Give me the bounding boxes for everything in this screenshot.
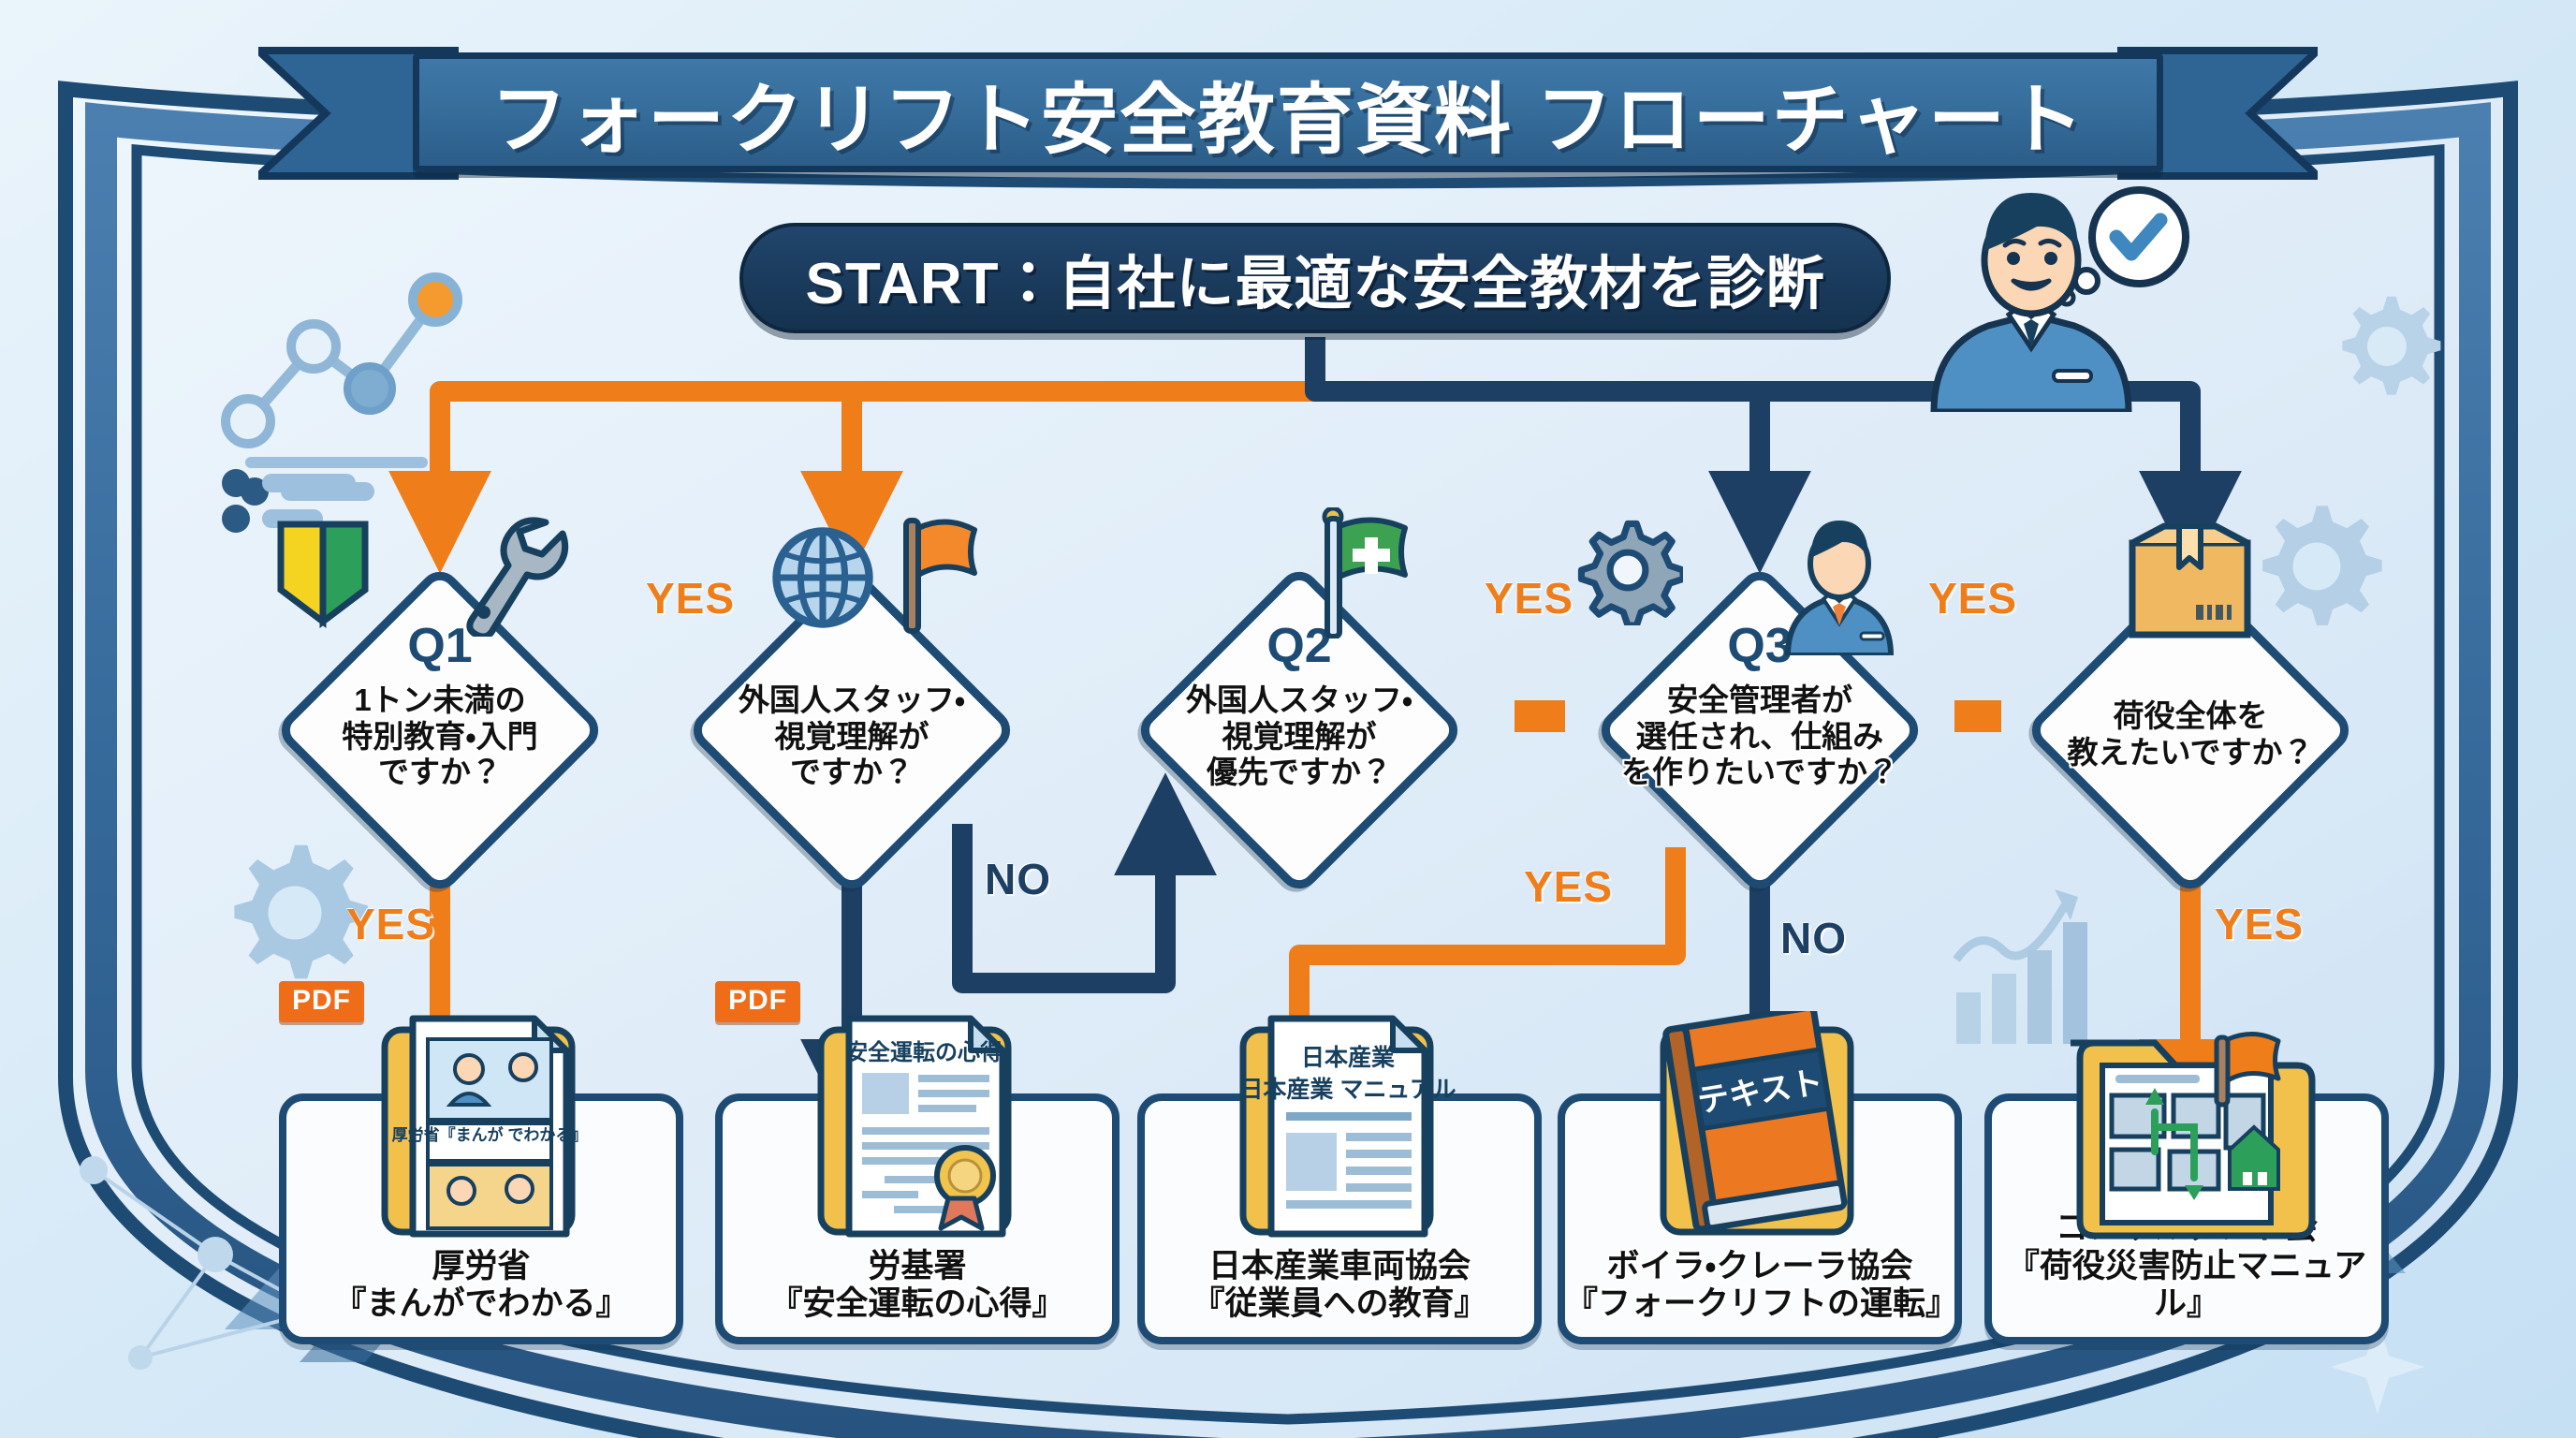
art-caption-2: 安全運転の心得 [845, 1039, 1003, 1065]
result-card-label-2: 労基署 『安全運転の心得』 [723, 1248, 1112, 1324]
decision-text: 1トン未満の 特別教育・入門 ですか？ [271, 682, 608, 791]
beginner-mark-icon [271, 517, 374, 629]
result-card-5[interactable]: コンサルタント会 『荷役災害防止マニュアル』 [1984, 1093, 2389, 1344]
pdf-badge-1: PDF [279, 981, 364, 1022]
start-node[interactable]: START：自社に最適な安全教材を診断 [739, 223, 1891, 333]
result-card-1[interactable]: 厚労省『まんが でわかる』 PDF 厚労省 『まんがでわかる』 [279, 1093, 683, 1344]
manga-booklet-icon: 厚労省『まんが でわかる』 [345, 1011, 617, 1245]
edge-label-yes-6: YES [2215, 899, 2304, 949]
orange-flag-icon [899, 515, 992, 637]
manual-document-icon: 日本産業 日本産業 マニュアル [1204, 1011, 1475, 1245]
edge-label-yes-5: YES [346, 899, 435, 949]
document-with-seal-icon: 安全運転の心得 [782, 1011, 1053, 1245]
globe-icon [768, 522, 878, 633]
junction-connector [1515, 700, 1565, 732]
manager-person-icon [1778, 513, 1900, 655]
decision-text: 外国人スタッフ・ 視覚理解が ですか？ [683, 682, 1020, 791]
cardboard-box-icon [2127, 522, 2253, 639]
decision-text: 荷役全体を 教えたいですか？ [2022, 698, 2359, 770]
junction-connector [1954, 700, 2001, 732]
svg-text:日本産業: 日本産業 [1301, 1045, 1395, 1071]
result-card-label-3: 日本産業車両協会 『従業員への教育』 [1145, 1248, 1534, 1324]
edge-label-yes-4: YES [1524, 861, 1613, 912]
edge-label-yes-1: YES [646, 573, 735, 624]
result-card-2[interactable]: 安全運転の心得 PDF 労基署 『安全運転の心得』 [715, 1093, 1120, 1344]
smiling-businessman-illustration [1917, 178, 2217, 412]
pdf-badge-2: PDF [715, 981, 800, 1022]
art-caption-1: 厚労省『まんが でわかる』 [392, 1125, 588, 1144]
edge-label-yes-2: YES [1485, 573, 1573, 624]
gear-icon [1573, 515, 1683, 625]
edge-label-no-1: NO [985, 854, 1051, 904]
textbook-icon: テキスト [1624, 1011, 1895, 1245]
art-caption-3: 日本産業 マニュアル [1239, 1077, 1456, 1103]
start-node-label: START：自社に最適な安全教材を診断 [805, 236, 1824, 320]
result-card-4[interactable]: テキスト ボイラ・クレーラ協会 『フォークリフトの運転』 [1558, 1093, 1962, 1344]
edge-label-yes-3: YES [1928, 573, 2017, 624]
result-card-label-4: ボイラ・クレーラ協会 『フォークリフトの運転』 [1565, 1248, 1954, 1324]
floorplan-folder-icon [2046, 1011, 2327, 1245]
edge-label-no-2: NO [1780, 913, 1847, 963]
decision-text: 安全管理者が 選任され、仕組み を作りたいですか？ [1591, 682, 1928, 791]
result-card-label-1: 厚労省 『まんがでわかる』 [286, 1248, 676, 1324]
wrench-icon [463, 515, 571, 637]
decision-text: 外国人スタッフ・ 視覚理解が 優先ですか？ [1131, 682, 1468, 791]
result-card-3[interactable]: 日本産業 日本産業 マニュアル 日本産業車両協会 『従業員への教育』 [1137, 1093, 1542, 1344]
green-cross-flag-icon [1318, 507, 1428, 638]
